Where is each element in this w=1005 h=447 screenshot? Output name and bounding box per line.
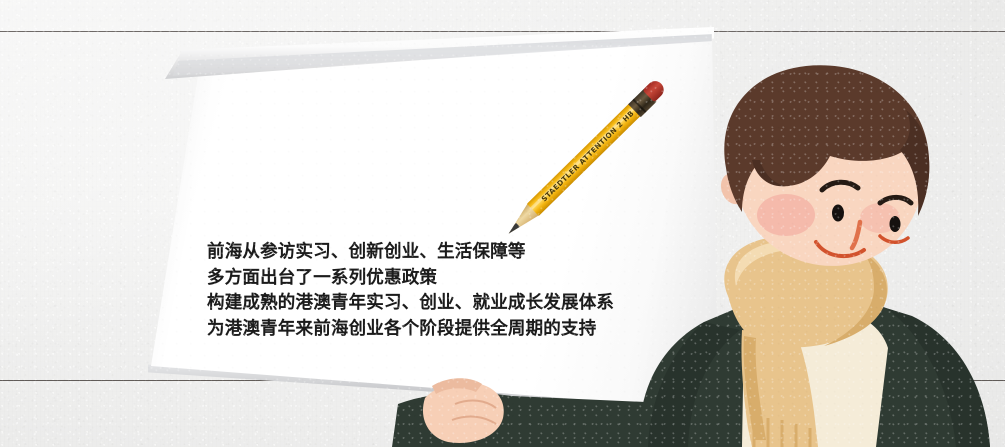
- eye-right: [890, 216, 901, 232]
- eye-left: [832, 205, 844, 222]
- poster-canvas: 前海从参访实习、创新创业、生活保障等 多方面出台了一系列优惠政策 构建成熟的港澳…: [0, 0, 1005, 447]
- cheek-left: [757, 194, 815, 236]
- hand-holding-board: [423, 378, 504, 443]
- illustrated-young-man: [0, 0, 1005, 447]
